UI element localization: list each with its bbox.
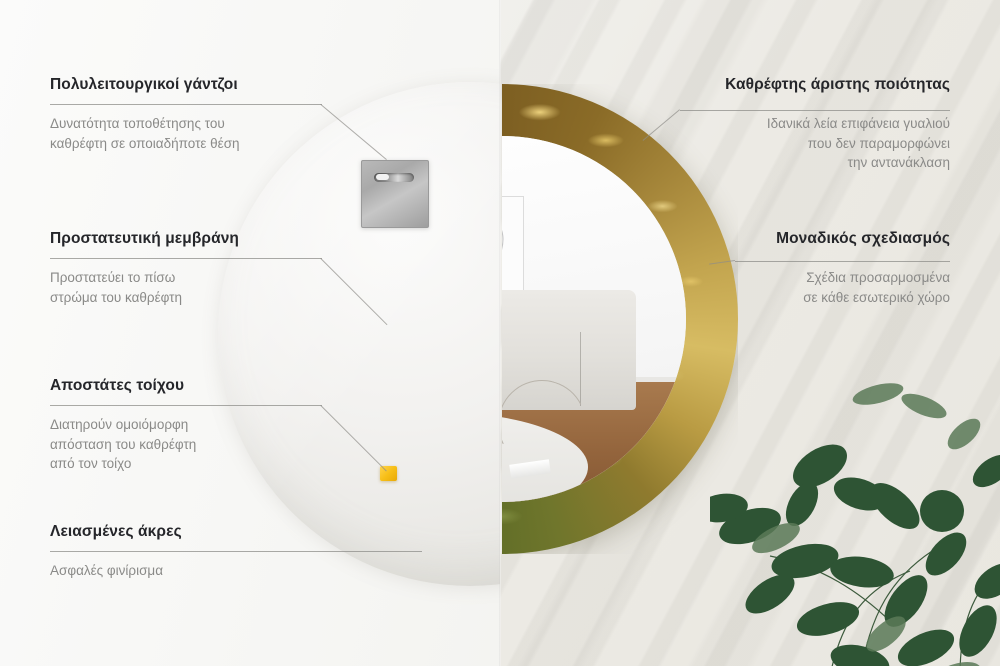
feature-desc-hooks: Δυνατότητα τοποθέτησης του καθρέφτη σε ο… bbox=[50, 114, 330, 153]
leaf-branch-icon bbox=[710, 376, 1000, 666]
feature-block-membrane: Προστατευτική μεμβράνη Προστατεύει το πί… bbox=[50, 230, 330, 307]
hook-slot-icon bbox=[374, 173, 414, 182]
hook-plate bbox=[361, 160, 429, 228]
feature-block-spacers: Αποστάτες τοίχου Διατηρούν ομοιόμορφη απ… bbox=[50, 377, 330, 474]
infographic-canvas: Πολυλειτουργικοί γάντζοι Δυνατότητα τοπο… bbox=[0, 0, 1000, 666]
feature-title-design: Μοναδικός σχεδιασμός bbox=[640, 230, 950, 248]
feature-desc-spacers: Διατηρούν ομοιόμορφη απόσταση του καθρέφ… bbox=[50, 415, 330, 474]
feature-title-edges: Λειασμένες άκρες bbox=[50, 523, 330, 541]
feature-title-spacers: Αποστάτες τοίχου bbox=[50, 377, 330, 395]
panel-divider bbox=[499, 0, 501, 666]
mirror-glass bbox=[502, 136, 686, 502]
line-art-portrait-icon bbox=[502, 207, 513, 291]
feature-desc-quality: Ιδανικά λεία επιφάνεια γυαλιού που δεν π… bbox=[630, 114, 950, 173]
feature-desc-design: Σχέδια προσαρμοσμένα σε κάθε εσωτερικό χ… bbox=[640, 268, 950, 307]
feature-block-design: Μοναδικός σχεδιασμός Σχέδια προσαρμοσμέν… bbox=[640, 230, 950, 307]
feature-title-quality: Καθρέφτης άριστης ποιότητας bbox=[630, 76, 950, 94]
feature-desc-edges: Ασφαλές φινίρισμα bbox=[50, 561, 330, 581]
feature-desc-membrane: Προστατεύει το πίσω στρώμα του καθρέφτη bbox=[50, 268, 330, 307]
reflected-cushion-seam bbox=[580, 332, 581, 406]
feature-block-quality: Καθρέφτης άριστης ποιότητας Ιδανικά λεία… bbox=[630, 76, 950, 173]
feature-block-hooks: Πολυλειτουργικοί γάντζοι Δυνατότητα τοπο… bbox=[50, 76, 330, 153]
foliage-decoration bbox=[710, 376, 1000, 666]
feature-title-hooks: Πολυλειτουργικοί γάντζοι bbox=[50, 76, 330, 94]
feature-block-edges: Λειασμένες άκρες Ασφαλές φινίρισμα bbox=[50, 523, 330, 581]
feature-title-membrane: Προστατευτική μεμβράνη bbox=[50, 230, 330, 248]
reflected-art-frame bbox=[502, 196, 524, 302]
